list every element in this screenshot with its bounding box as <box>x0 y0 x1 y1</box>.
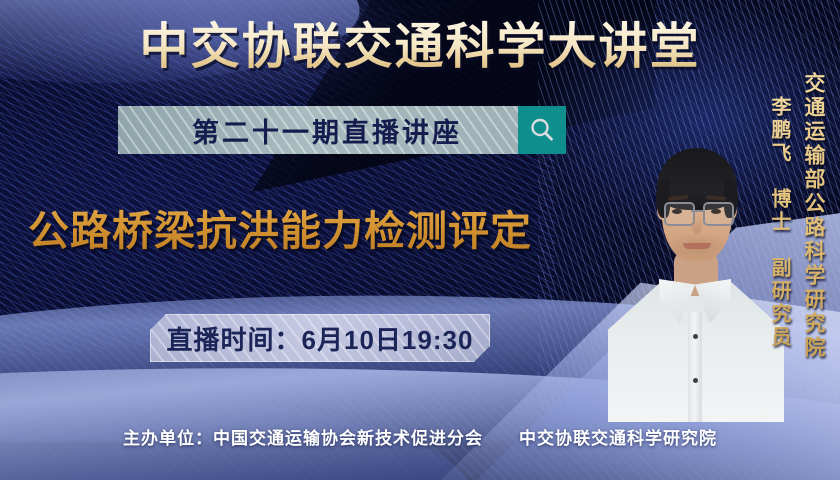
speaker-portrait <box>604 112 784 412</box>
subtitle-band-text-area: 第二十一期直播讲座 <box>118 106 518 154</box>
live-time-badge: 直播时间：6月10日19:30 <box>150 314 490 362</box>
portrait-glasses-lens-left <box>664 202 695 226</box>
speaker-name-title: 李鹏飞 博士 副研究员 <box>765 96 794 349</box>
speaker-organization: 交通运输部公路科学研究院 <box>798 72 828 360</box>
subtitle-band: 第二十一期直播讲座 <box>118 106 566 154</box>
portrait-shirt-button <box>693 334 698 339</box>
portrait-shirt-placket <box>688 312 702 422</box>
portrait-mouth <box>683 243 711 249</box>
portrait-glasses-lens-right <box>703 202 734 226</box>
lecture-topic: 公路桥梁抗洪能力检测评定 <box>28 206 532 256</box>
live-time-label: 直播时间：6月10日19:30 <box>167 320 474 357</box>
portrait-nose <box>692 216 702 234</box>
footer-organizers: 主办单位：中国交通运输协会新技术促进分会 中交协联交通科学研究院 <box>0 424 840 449</box>
poster-container: 中交协联交通科学大讲堂 第二十一期直播讲座 公路桥梁抗洪能力检测评定 直播时间：… <box>0 0 840 480</box>
poster-title: 中交协联交通科学大讲堂 <box>0 18 840 76</box>
portrait-shirt-button <box>693 378 698 383</box>
subtitle-label: 第二十一期直播讲座 <box>192 111 462 150</box>
portrait-glasses-bridge <box>691 210 703 212</box>
search-icon[interactable] <box>518 106 566 154</box>
